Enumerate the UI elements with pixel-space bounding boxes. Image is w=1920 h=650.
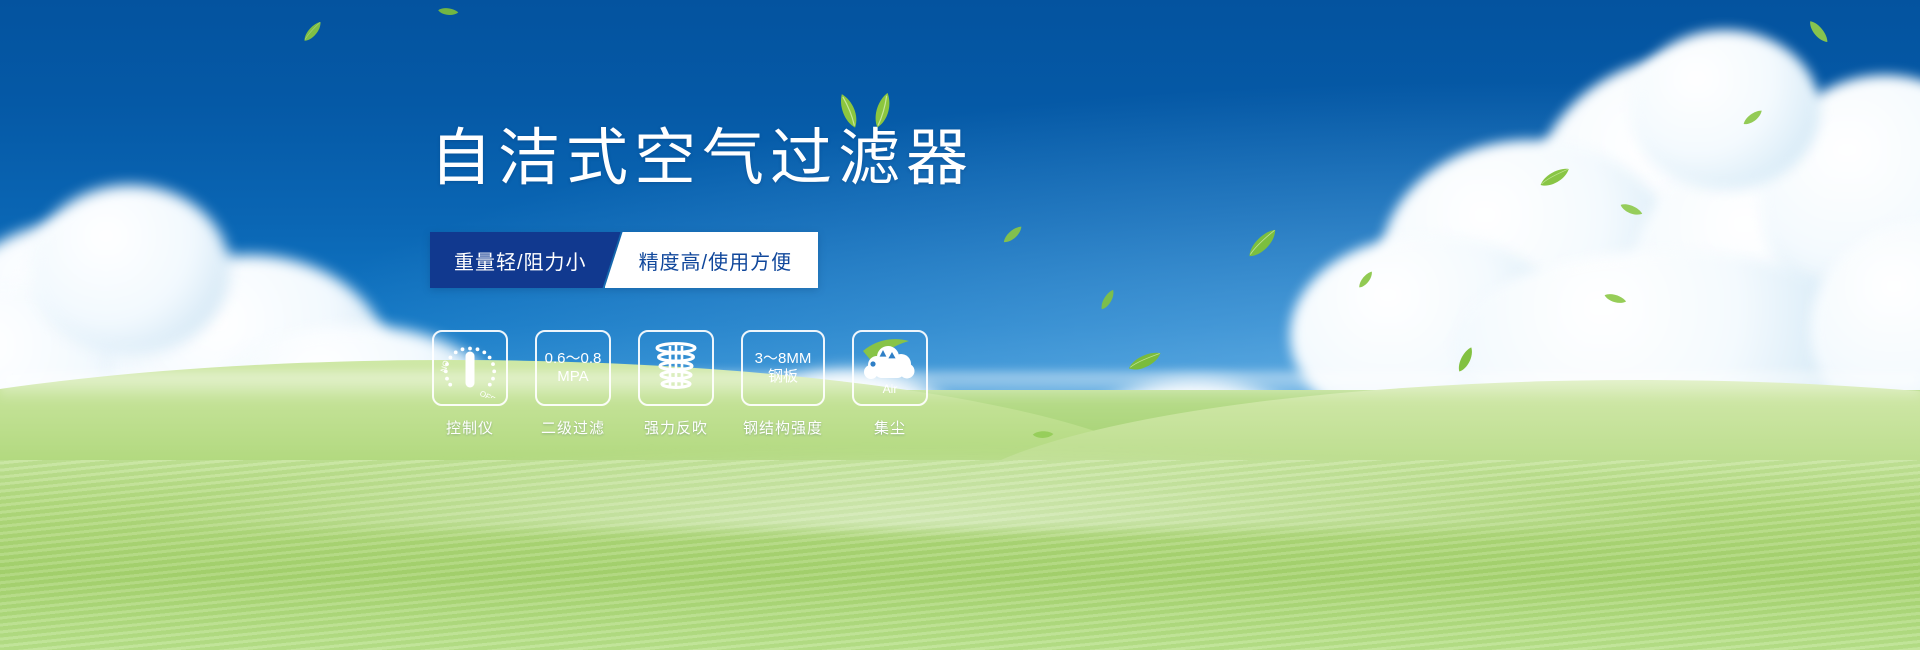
feature-caption-steel-strength: 钢结构强度 [743, 417, 823, 438]
tag-light-weight-label: 重量轻/阻力小 [454, 246, 587, 275]
feature-item-back-blow: 强力反吹 [638, 330, 714, 438]
svg-text:Air: Air [883, 382, 898, 396]
tag-precision-label: 精度高/使用方便 [639, 246, 793, 275]
feature-icon-row: NO OFF 控制仪 0.6～0.8 MPA 二级过滤 [432, 330, 928, 438]
tag-precision: 精度高/使用方便 [605, 232, 819, 288]
air-cloud-icon: Air [852, 330, 928, 406]
feature-item-two-stage: 0.6～0.8 MPA 二级过滤 [535, 330, 611, 438]
product-hero-banner: 自洁式空气过滤器 重量轻/阻力小 精度高/使用方便 [0, 0, 1920, 650]
feature-caption-controller: 控制仪 [446, 417, 494, 438]
pressure-value-line2: MPA [557, 368, 588, 386]
tag-light-weight: 重量轻/阻力小 [430, 232, 621, 288]
feature-caption-two-stage: 二级过滤 [541, 417, 605, 438]
page-title: 自洁式空气过滤器 [430, 128, 974, 190]
steel-text-icon: 3～8MM 钢板 [741, 330, 825, 406]
feature-item-steel-strength: 3～8MM 钢板 钢结构强度 [741, 330, 825, 438]
dial-gauge-icon: NO OFF [432, 330, 508, 406]
steel-value-line2: 钢板 [768, 368, 798, 386]
feature-tag-strip: 重量轻/阻力小 精度高/使用方便 [430, 232, 818, 288]
pressure-text-icon: 0.6～0.8 MPA [535, 330, 611, 406]
svg-text:NO: NO [439, 359, 451, 373]
feature-caption-dust-collect: 集尘 [874, 417, 906, 438]
svg-text:OFF: OFF [478, 389, 496, 398]
feature-caption-back-blow: 强力反吹 [644, 417, 708, 438]
pressure-value-line1: 0.6～0.8 [545, 350, 602, 368]
coil-filter-icon [638, 330, 714, 406]
steel-value-line1: 3～8MM [755, 350, 812, 368]
feature-item-dust-collect: Air 集尘 [852, 330, 928, 438]
feature-item-controller: NO OFF 控制仪 [432, 330, 508, 438]
